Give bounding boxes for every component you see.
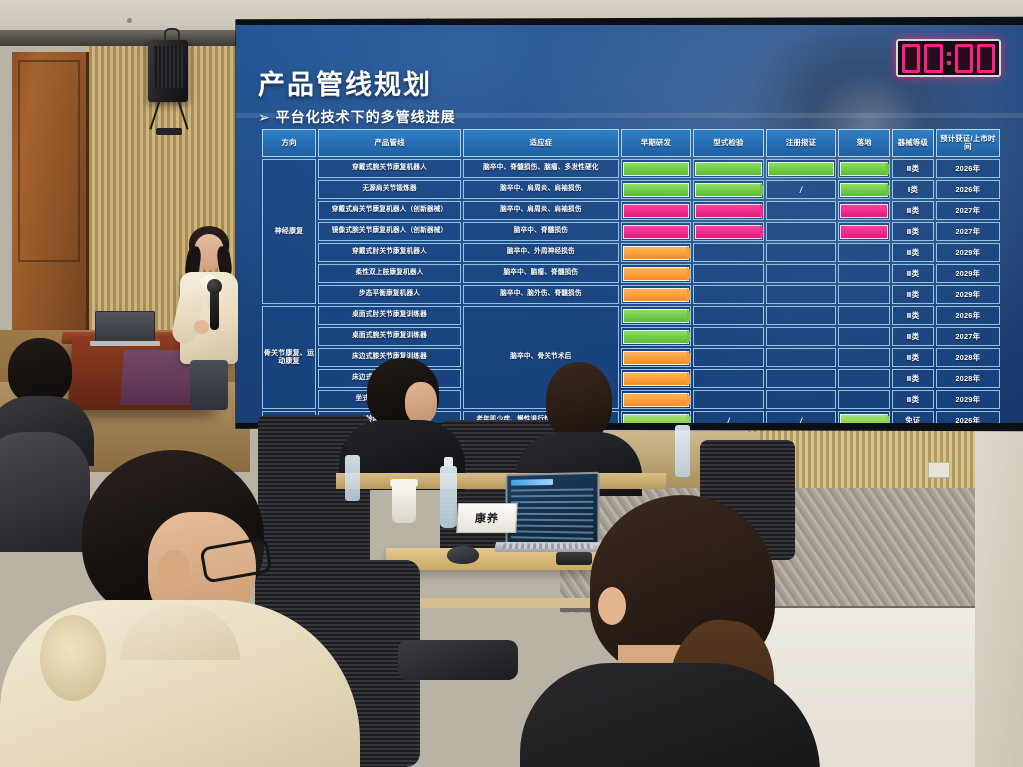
chair-armrest (398, 640, 518, 680)
table-header-5: 注册报证 (766, 129, 837, 157)
not-applicable-mark: / (800, 416, 803, 424)
stage-cell-落地 (838, 285, 890, 304)
stage-cell-早期研发 (621, 285, 692, 304)
expected-date-cell: 2026年 (936, 180, 1000, 199)
stage-cell-注册报证 (766, 159, 837, 178)
expected-date-cell: 2029年 (936, 243, 1000, 262)
presenter (178, 228, 240, 408)
stage-cell-落地 (838, 159, 890, 178)
table-header-4: 型式检验 (693, 129, 764, 157)
foreground-attendee-man (30, 450, 360, 767)
table-row: 骨关节康复、运动康复桌面式肘关节康复训练器脑卒中、骨关节术后Ⅱ类2026年 (262, 306, 1000, 325)
table-row: 穿戴式肘关节康复机器人脑卒中、外周神经损伤Ⅱ类2029年 (262, 243, 1000, 262)
device-grade-cell: Ⅱ类 (892, 306, 933, 325)
water-bottle (440, 466, 457, 528)
stage-cell-早期研发 (621, 243, 692, 262)
attendee-ear (158, 550, 190, 592)
coffee-cup (392, 483, 416, 523)
stage-cell-早期研发 (621, 222, 692, 241)
stage-cell-早期研发 (621, 306, 692, 325)
progress-bar-lgreen (840, 414, 888, 424)
progress-bar-green (623, 162, 690, 176)
indication-cell: 脑卒中、肩周炎、肩袖损伤 (463, 180, 619, 199)
progress-bar-green (623, 309, 690, 323)
device-grade-cell: Ⅱ类 (892, 390, 933, 409)
indication-cell: 脑卒中、脊髓损伤 (463, 222, 619, 241)
device-grade-cell: Ⅱ类 (892, 285, 933, 304)
progress-bar-pink (840, 204, 888, 218)
progress-bar-green (623, 183, 690, 197)
table-header-2: 适应症 (463, 129, 619, 157)
device-grade-cell: Ⅱ类 (892, 327, 933, 346)
progress-bar-pink (840, 225, 888, 239)
product-cell: 桌面式肘关节康复训练器 (318, 306, 461, 325)
stage-cell-型式检验 (693, 390, 764, 409)
progress-bar-green (695, 162, 762, 176)
expected-date-cell: 2027年 (936, 201, 1000, 220)
stage-cell-型式检验 (693, 369, 764, 388)
slide-subtitle-text: 平台化技术下的多管线进展 (276, 109, 456, 125)
stage-cell-注册报证 (766, 285, 837, 304)
stage-cell-早期研发 (621, 180, 692, 199)
product-cell: 穿戴式腕关节康复机器人 (318, 159, 461, 178)
device-grade-cell: Ⅱ类 (892, 159, 933, 178)
timer-colon-icon (947, 52, 951, 65)
progress-bar-pink (623, 204, 690, 218)
indication-cell: 脑卒中、肩周炎、肩袖损伤 (463, 201, 619, 220)
slide-title: 产品管线规划 (258, 63, 432, 102)
timer-digit (902, 44, 920, 73)
expected-date-cell: 2029年 (936, 285, 1000, 304)
table-header-7: 器械等级 (892, 129, 933, 157)
stage-cell-型式检验 (693, 306, 764, 325)
stage-cell-落地 (838, 201, 890, 220)
table-header-6: 落地 (838, 129, 890, 157)
progress-bar-pink (695, 225, 762, 239)
table-header-3: 早期研发 (621, 129, 692, 157)
water-bottle (675, 425, 690, 477)
progress-bar-orange (623, 246, 690, 260)
stage-cell-注册报证 (766, 222, 837, 241)
table-row: 桌面式腕关节康复训练器Ⅱ类2027年 (262, 327, 1000, 346)
product-cell: 无源肩关节锻炼器 (318, 180, 461, 199)
stage-cell-型式检验 (693, 159, 764, 178)
table-header-1: 产品管线 (318, 129, 461, 157)
progress-bar-green (840, 162, 888, 176)
expected-date-cell: 2027年 (936, 327, 1000, 346)
foreground-attendee-woman (560, 495, 850, 767)
audience-face (405, 382, 437, 424)
progress-bar-pink (695, 204, 762, 218)
device-grade-cell: 免证 (892, 411, 933, 423)
progress-bar-green (623, 330, 690, 344)
product-cell: 桌面式腕关节康复训练器 (318, 327, 461, 346)
stage-cell-落地 (838, 180, 890, 199)
expected-date-cell: 2026年 (936, 159, 1000, 178)
not-applicable-mark: / (800, 185, 803, 195)
stage-cell-落地 (838, 243, 890, 262)
stage-cell-注册报证 (766, 201, 837, 220)
product-cell: 柔性双上肢康复机器人 (318, 264, 461, 283)
stage-cell-落地 (838, 327, 890, 346)
stage-cell-注册报证 (766, 306, 837, 325)
table-header-8: 预计获证/上市时间 (936, 129, 1000, 157)
progress-bar-pink (623, 225, 690, 239)
stage-cell-型式检验 (693, 201, 764, 220)
bullet-marker-icon: ➢ (258, 109, 271, 125)
audience-head (8, 338, 72, 404)
presenter-trousers (190, 360, 228, 410)
product-cell: 步态平衡康复机器人 (318, 285, 461, 304)
table-row: 穿戴式肩关节康复机器人（创新器械）脑卒中、肩周炎、肩袖损伤Ⅱ类2027年 (262, 201, 1000, 220)
stage-cell-落地 (838, 369, 890, 388)
name-card-text: 康养 (475, 510, 500, 526)
stage-cell-落地 (838, 222, 890, 241)
device-grade-cell: Ⅱ类 (892, 243, 933, 262)
audience-member (520, 362, 640, 482)
expected-date-cell: 2026年 (936, 411, 1000, 423)
stage-cell-型式检验: / (693, 411, 764, 423)
table-row: 步态平衡康复机器人脑卒中、脑外伤、脊髓损伤Ⅱ类2029年 (262, 285, 1000, 304)
stage-cell-型式检验 (693, 285, 764, 304)
stage-cell-落地 (838, 348, 890, 367)
stage-cell-落地 (838, 390, 890, 409)
stage-cell-落地 (838, 264, 890, 283)
stone-column (975, 430, 1023, 767)
ceiling-fixture (127, 18, 132, 23)
direction-cell: 骨关节康复、运动康复 (262, 306, 316, 409)
expected-date-cell: 2029年 (936, 390, 1000, 409)
stage-cell-型式检验 (693, 243, 764, 262)
stage-cell-早期研发 (621, 201, 692, 220)
table-row: 无源肩关节锻炼器脑卒中、肩周炎、肩袖损伤/Ⅰ类2026年 (262, 180, 1000, 199)
table-header-0: 方向 (262, 129, 316, 157)
microphone (210, 290, 219, 330)
table-row: 镜像式腕关节康复机器人（创新器械）脑卒中、脊髓损伤Ⅱ类2027年 (262, 222, 1000, 241)
device-grade-cell: Ⅱ类 (892, 201, 933, 220)
speaker-bracket (152, 100, 186, 132)
timer-digit (924, 44, 942, 73)
product-cell: 穿戴式肩关节康复机器人（创新器械） (318, 201, 461, 220)
device-grade-cell: Ⅱ类 (892, 348, 933, 367)
slide-subtitle: ➢ 平台化技术下的多管线进展 (258, 107, 456, 127)
stage-cell-型式检验 (693, 222, 764, 241)
wall-speaker (148, 40, 188, 102)
expected-date-cell: 2028年 (936, 369, 1000, 388)
indication-cell: 脑卒中、脑外伤、脊髓损伤 (463, 285, 619, 304)
device-grade-cell: Ⅰ类 (892, 180, 933, 199)
attendee-top (520, 663, 820, 767)
presenter-hand (194, 320, 209, 334)
stage-cell-注册报证: / (766, 180, 837, 199)
indication-cell: 脑卒中、脊髓损伤、脑瘤、多发性硬化 (463, 159, 619, 178)
stage-cell-注册报证 (766, 348, 837, 367)
table-row: 神经康复穿戴式腕关节康复机器人脑卒中、脊髓损伤、脑瘤、多发性硬化Ⅱ类2026年 (262, 159, 1000, 178)
not-applicable-mark: / (727, 416, 730, 424)
computer-mouse (447, 546, 479, 564)
power-outlet (928, 462, 950, 478)
stage-cell-注册报证 (766, 369, 837, 388)
stage-cell-注册报证 (766, 264, 837, 283)
stage-cell-落地 (838, 411, 890, 423)
stage-cell-早期研发 (621, 159, 692, 178)
progress-bar-green (695, 183, 762, 197)
name-card: 康养 (456, 503, 518, 533)
stage-cell-注册报证 (766, 390, 837, 409)
device-grade-cell: Ⅱ类 (892, 369, 933, 388)
device-grade-cell: Ⅱ类 (892, 264, 933, 283)
stage-cell-注册报证: / (766, 411, 837, 423)
device-grade-cell: Ⅱ类 (892, 222, 933, 241)
expected-date-cell: 2027年 (936, 222, 1000, 241)
countdown-timer (896, 39, 1001, 77)
direction-cell: 神经康复 (262, 159, 316, 304)
progress-bar-orange (623, 267, 690, 281)
stage-cell-早期研发 (621, 327, 692, 346)
expected-date-cell: 2026年 (936, 306, 1000, 325)
expected-date-cell: 2029年 (936, 264, 1000, 283)
laptop-app-titlebar (511, 479, 553, 486)
indication-cell: 脑卒中、脑瘤、脊髓损伤 (463, 264, 619, 283)
table-header-row: 方向产品管线适应症早期研发型式检验注册报证落地器械等级预计获证/上市时间 (262, 129, 1000, 157)
stage-cell-型式检验 (693, 180, 764, 199)
table-row: 柔性双上肢康复机器人脑卒中、脑瘤、脊髓损伤Ⅱ类2029年 (262, 264, 1000, 283)
audience-member (345, 358, 455, 478)
stage-cell-早期研发 (621, 264, 692, 283)
podium-laptop (95, 311, 155, 343)
attendee-ear (598, 587, 626, 625)
progress-bar-green (768, 162, 835, 176)
product-cell: 镜像式腕关节康复机器人（创新器械） (318, 222, 461, 241)
stage-cell-落地 (838, 306, 890, 325)
product-cell: 穿戴式肘关节康复机器人 (318, 243, 461, 262)
stage-cell-注册报证 (766, 243, 837, 262)
conference-room-photo: 产品管线规划 ➢ 平台化技术下的多管线进展 方向产品管线适应症早期研发型式检验注… (0, 0, 1023, 767)
fur-collar (40, 615, 106, 701)
audience-head (546, 362, 612, 440)
stage-cell-型式检验 (693, 348, 764, 367)
indication-cell: 脑卒中、外周神经损伤 (463, 243, 619, 262)
stage-cell-注册报证 (766, 327, 837, 346)
expected-date-cell: 2028年 (936, 348, 1000, 367)
timer-digit (955, 44, 973, 73)
progress-bar-green (840, 183, 888, 197)
timer-digit (977, 44, 995, 73)
progress-bar-orange (623, 288, 690, 302)
stage-cell-型式检验 (693, 327, 764, 346)
stage-cell-型式检验 (693, 264, 764, 283)
